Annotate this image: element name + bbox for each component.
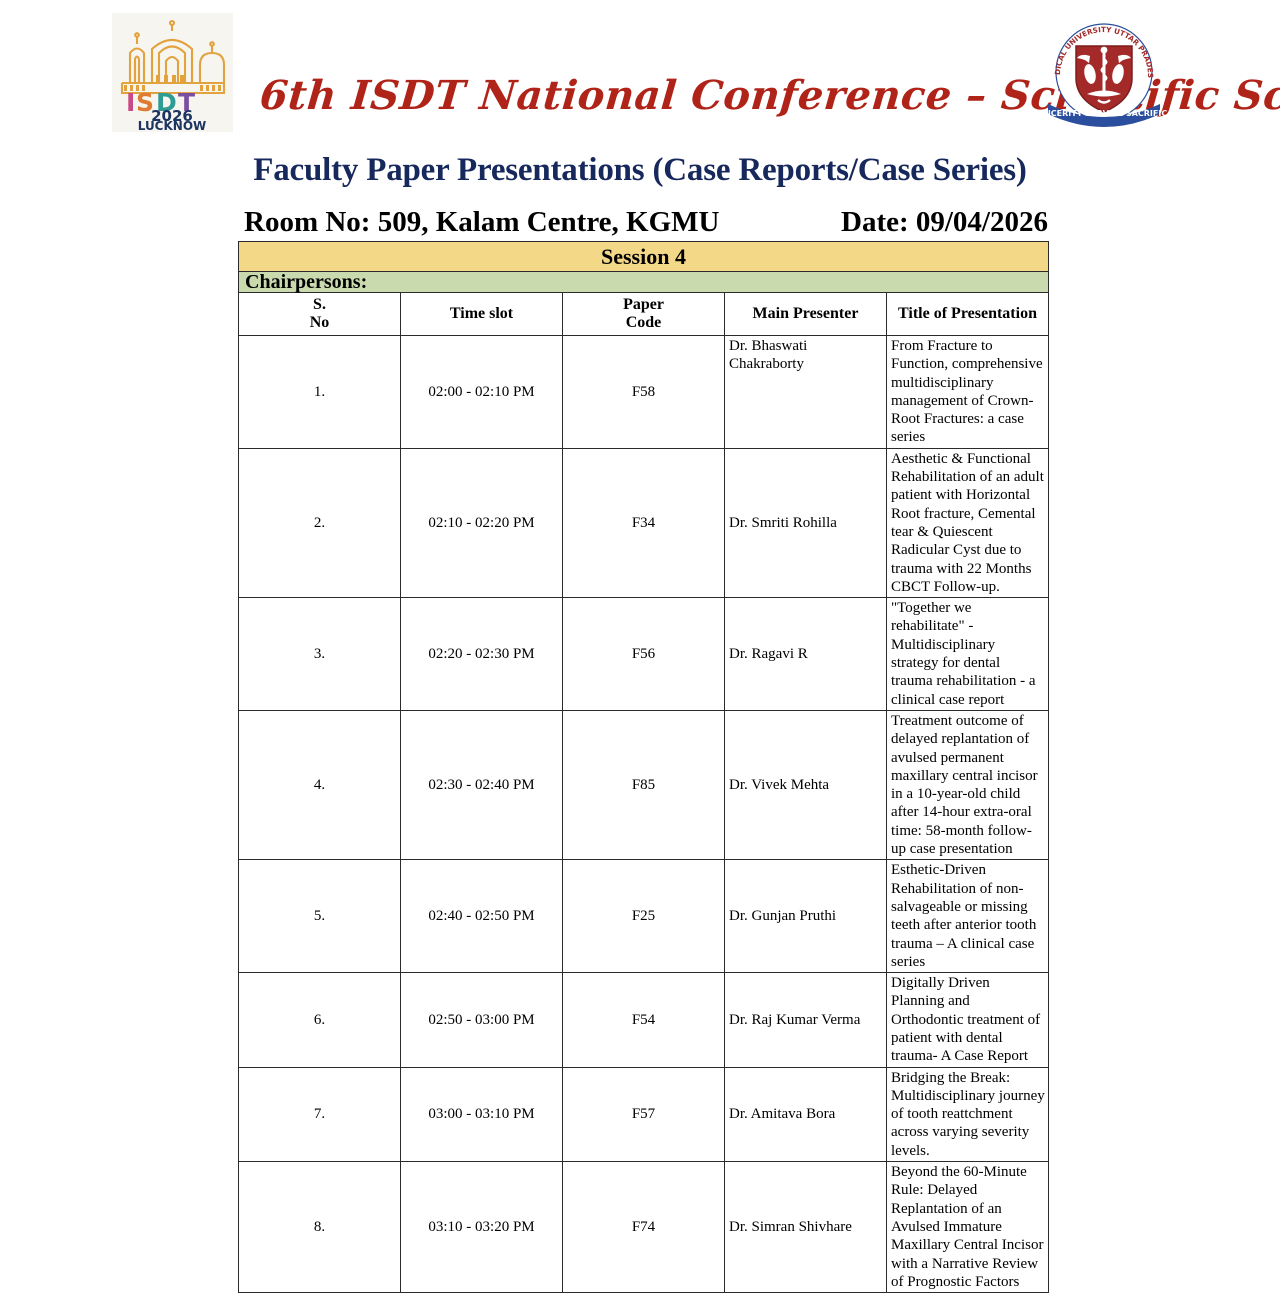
session-row: Session 4 (239, 242, 1049, 272)
code-line-1: Paper (565, 296, 722, 314)
code-line-2: Code (565, 314, 722, 332)
row-sno: 7. (239, 1067, 401, 1161)
row-paper-code: F56 (563, 598, 725, 711)
venue-line: Room No: 509, Kalam Centre, KGMU Date: 0… (240, 206, 1048, 240)
row-time: 02:10 - 02:20 PM (401, 448, 563, 597)
column-header-sno: S. No (239, 293, 401, 336)
column-header-title: Title of Presentation (887, 293, 1049, 336)
room-label: Room No: 509, Kalam Centre, KGMU (244, 206, 719, 239)
table-row: 1. 02:00 - 02:10 PM F58 Dr. Bhaswati Cha… (239, 336, 1049, 449)
column-header-presenter: Main Presenter (725, 293, 887, 336)
sno-line-2: No (241, 314, 398, 332)
table-row: 7. 03:00 - 03:10 PM F57 Dr. Amitava Bora… (239, 1067, 1049, 1161)
row-sno: 3. (239, 598, 401, 711)
row-time: 03:00 - 03:10 PM (401, 1067, 563, 1161)
row-presenter: Dr. Ragavi R (725, 598, 887, 711)
row-sno: 4. (239, 710, 401, 859)
row-time: 02:40 - 02:50 PM (401, 860, 563, 973)
row-presenter: Dr. Amitava Bora (725, 1067, 887, 1161)
session-title: Session 4 (239, 242, 1049, 272)
row-paper-code: F74 (563, 1162, 725, 1293)
row-presenter: Dr. Simran Shivhare (725, 1162, 887, 1293)
date-label: Date: 09/04/2026 (841, 206, 1048, 239)
chairpersons-row: Chairpersons: (239, 272, 1049, 293)
row-sno: 2. (239, 448, 401, 597)
isdt-logo: I S D T 2026 LUCKNOW (112, 13, 233, 132)
row-title: Esthetic-Driven Rehabilitation of non-sa… (887, 860, 1049, 973)
table-row: 5. 02:40 - 02:50 PM F25 Dr. Gunjan Pruth… (239, 860, 1049, 973)
schedule-table: Session 4 Chairpersons: S. No Time slot … (238, 241, 1049, 1293)
row-time: 02:50 - 03:00 PM (401, 973, 563, 1067)
page-header: I S D T 2026 LUCKNOW 6th ISDT National C… (0, 0, 1280, 140)
row-sno: 1. (239, 336, 401, 449)
row-sno: 5. (239, 860, 401, 973)
row-title: Treatment outcome of delayed replantatio… (887, 710, 1049, 859)
row-paper-code: F54 (563, 973, 725, 1067)
row-title: Beyond the 60-Minute Rule: Delayed Repla… (887, 1162, 1049, 1293)
row-paper-code: F34 (563, 448, 725, 597)
row-time: 02:30 - 02:40 PM (401, 710, 563, 859)
svg-text:LUCKNOW: LUCKNOW (138, 119, 207, 132)
row-time: 03:10 - 03:20 PM (401, 1162, 563, 1293)
row-presenter: Dr. Bhaswati Chakraborty (725, 336, 887, 449)
row-presenter: Dr. Gunjan Pruthi (725, 860, 887, 973)
column-header-paper-code: Paper Code (563, 293, 725, 336)
row-presenter: Dr. Vivek Mehta (725, 710, 887, 859)
page-subtitle: Faculty Paper Presentations (Case Report… (0, 152, 1280, 189)
table-row: 6. 02:50 - 03:00 PM F54 Dr. Raj Kumar Ve… (239, 973, 1049, 1067)
row-title: Aesthetic & Functional Rehabilitation of… (887, 448, 1049, 597)
row-title: From Fracture to Function, comprehensive… (887, 336, 1049, 449)
row-sno: 6. (239, 973, 401, 1067)
row-paper-code: F57 (563, 1067, 725, 1161)
row-title: "Together we rehabilitate" - Multidiscip… (887, 598, 1049, 711)
svg-text:I: I (126, 88, 135, 117)
row-time: 02:20 - 02:30 PM (401, 598, 563, 711)
svg-text:SINCERITY SERVICE SACRIFICE: SINCERITY SERVICE SACRIFICE (1040, 109, 1168, 118)
chairpersons-label: Chairpersons: (239, 272, 1049, 293)
row-presenter: Dr. Smriti Rohilla (725, 448, 887, 597)
row-sno: 8. (239, 1162, 401, 1293)
row-title: Bridging the Break: Multidisciplinary jo… (887, 1067, 1049, 1161)
row-presenter: Dr. Raj Kumar Verma (725, 973, 887, 1067)
kgmu-logo: KING GEORGE'S MEDICAL UNIVERSITY UTTAR P… (1040, 12, 1168, 134)
table-row: 2. 02:10 - 02:20 PM F34 Dr. Smriti Rohil… (239, 448, 1049, 597)
table-header-row: S. No Time slot Paper Code Main Presente… (239, 293, 1049, 336)
column-header-time: Time slot (401, 293, 563, 336)
row-paper-code: F25 (563, 860, 725, 973)
sno-line-1: S. (241, 296, 398, 314)
row-time: 02:00 - 02:10 PM (401, 336, 563, 449)
table-row: 3. 02:20 - 02:30 PM F56 Dr. Ragavi R "To… (239, 598, 1049, 711)
table-row: 4. 02:30 - 02:40 PM F85 Dr. Vivek Mehta … (239, 710, 1049, 859)
table-row: 8. 03:10 - 03:20 PM F74 Dr. Simran Shivh… (239, 1162, 1049, 1293)
row-title: Digitally Driven Planning and Orthodonti… (887, 973, 1049, 1067)
row-paper-code: F58 (563, 336, 725, 449)
row-paper-code: F85 (563, 710, 725, 859)
conference-title: 6th ISDT National Conference – Scientifi… (258, 72, 1022, 119)
